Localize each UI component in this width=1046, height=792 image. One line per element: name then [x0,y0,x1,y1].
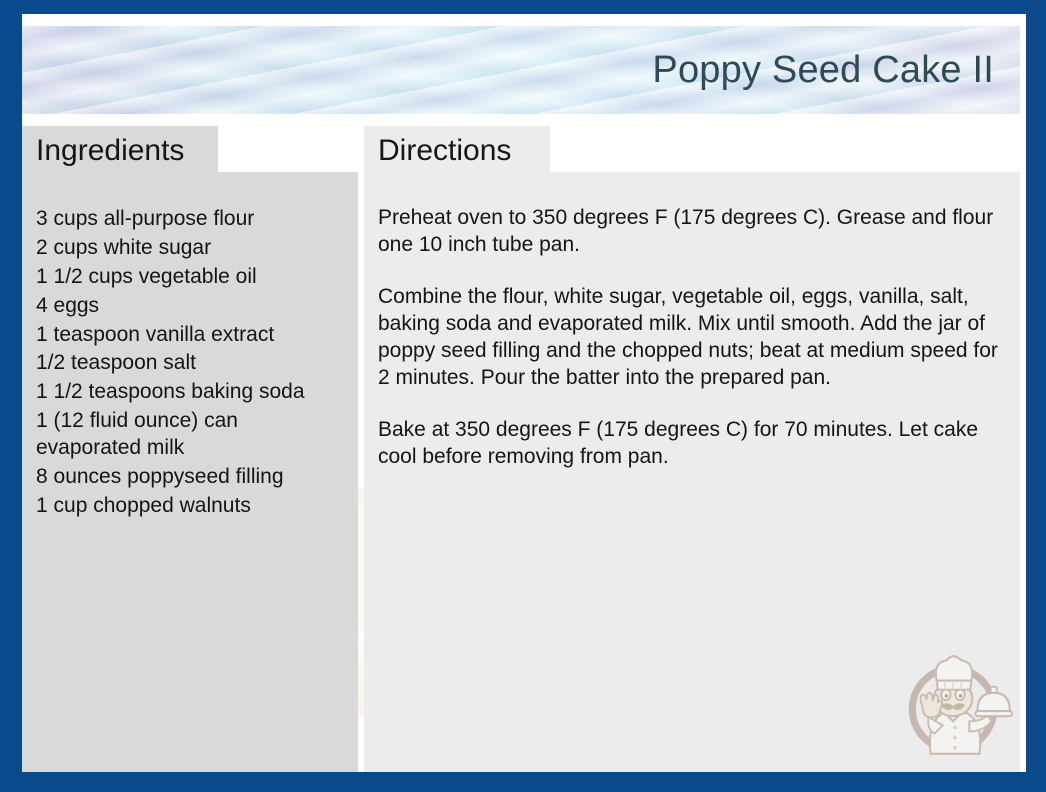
list-item: 1 cup chopped walnuts [36,493,348,520]
list-item: 8 ounces poppyseed filling [36,464,348,491]
direction-step: Preheat oven to 350 degrees F (175 degre… [378,204,998,259]
list-item: 1/2 teaspoon salt [36,350,348,377]
list-item: 2 cups white sugar [36,235,348,262]
list-item: 1 (12 fluid ounce) can evaporated milk [36,408,348,462]
ingredients-tab: Ingredients [22,126,218,172]
ingredients-heading: Ingredients [36,136,184,166]
list-item: 4 eggs [36,293,348,320]
header-banner: Poppy Seed Cake II [22,26,1020,114]
direction-step: Combine the flour, white sugar, vegetabl… [378,283,998,392]
direction-step: Bake at 350 degrees F (175 degrees C) fo… [378,416,998,471]
list-item: 1 1/2 teaspoons baking soda [36,379,348,406]
recipe-page: Poppy Seed Cake II [22,14,1026,772]
recipe-card: Poppy Seed Cake II [0,0,1046,792]
page-title: Poppy Seed Cake II [652,51,994,89]
list-item: 1 1/2 cups vegetable oil [36,264,348,291]
directions-panel: Directions Preheat oven to 350 degrees F… [364,172,1020,772]
list-item: 1 teaspoon vanilla extract [36,322,348,349]
ingredients-panel: Ingredients 3 cups all-purpose flour 2 c… [22,172,358,772]
list-item: 3 cups all-purpose flour [36,206,348,233]
directions-heading: Directions [378,136,511,166]
directions-body: Preheat oven to 350 degrees F (175 degre… [364,172,1020,470]
directions-tab: Directions [364,126,550,172]
ingredient-list: 3 cups all-purpose flour 2 cups white su… [22,172,358,520]
